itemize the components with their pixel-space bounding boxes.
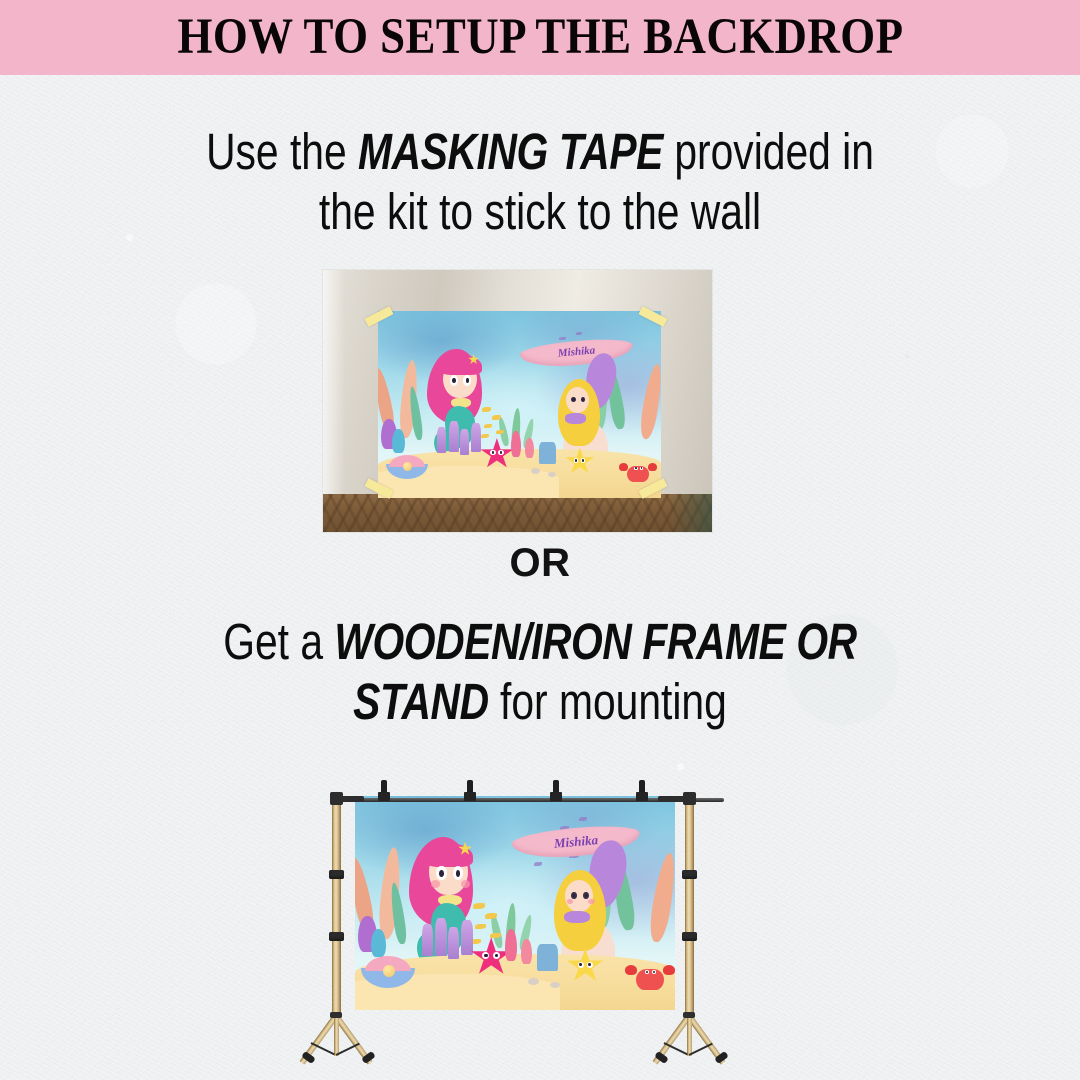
text-post: provided in — [663, 123, 874, 180]
clamp-handle — [553, 780, 559, 792]
backdrop-on-stand: Mishika — [355, 796, 675, 1010]
mermaid-eye — [450, 375, 458, 386]
backdrop-clamp — [550, 780, 562, 801]
text-emphasis: MASKING TAPE — [358, 123, 663, 180]
clamp-handle — [381, 780, 387, 792]
instruction-frame-stand: Get a WOODEN/IRON FRAME OR STAND for mou… — [0, 612, 1080, 732]
fish — [473, 903, 485, 909]
stand-pole-left — [332, 796, 341, 1018]
tripod-leg-center — [687, 1016, 692, 1056]
fish — [496, 430, 504, 434]
purple-rock — [437, 427, 446, 453]
poster-root: HOW TO SETUP THE BACKDROP Use the MASKIN… — [0, 0, 1080, 1080]
photo-stand-mounted: Mishika — [300, 762, 782, 1062]
mermaid-backdrop-artwork: Mishika — [355, 796, 675, 1010]
stand-joint-left — [330, 792, 343, 805]
starfish-eye — [587, 962, 593, 968]
text-pre: Use the — [206, 123, 358, 180]
starfish-shape — [565, 448, 595, 476]
starfish-shape — [480, 438, 514, 470]
fish — [492, 415, 501, 420]
pole-collar — [329, 932, 344, 941]
starfish-eye — [490, 450, 495, 456]
backdrop-clamp — [378, 780, 390, 801]
instruction-masking-tape: Use the MASKING TAPE provided in the kit… — [0, 122, 1080, 242]
instruction-line-2: the kit to stick to the wall — [108, 182, 972, 242]
tripod-hub-left — [330, 1012, 342, 1018]
blue-coral — [371, 929, 386, 957]
mermaid-eye — [583, 892, 589, 900]
tripod-leg-center — [334, 1016, 339, 1056]
mermaid-blush — [461, 880, 470, 887]
minnow-fish — [576, 332, 582, 335]
backdrop-clamp — [464, 780, 476, 801]
fish — [475, 924, 486, 929]
stand-joint-right — [683, 792, 696, 805]
text-post: for mounting — [489, 673, 727, 730]
fish — [484, 424, 492, 428]
pole-collar — [682, 870, 697, 879]
starfish-yellow — [565, 448, 595, 476]
pink-coral — [521, 939, 532, 964]
crab — [628, 963, 672, 991]
stand-pole-right — [685, 796, 694, 1018]
blue-rock — [539, 442, 556, 464]
crab-eye — [634, 467, 638, 470]
starfish-shape — [566, 948, 604, 984]
clamp-handle — [639, 780, 645, 792]
text-emphasis: STAND — [353, 673, 489, 730]
crab-eye — [640, 467, 644, 470]
crab-claw — [648, 463, 657, 471]
clamp-jaw — [378, 792, 390, 801]
text-pre: Get a — [223, 613, 334, 670]
pole-collar — [682, 932, 697, 941]
mermaid-top — [565, 413, 586, 424]
crab-body — [627, 466, 649, 482]
starfish-eye — [498, 450, 503, 456]
fish — [482, 407, 491, 412]
text-emphasis: WOODEN/IRON FRAME OR — [334, 613, 856, 670]
purple-rock — [435, 918, 447, 956]
wooden-floor — [323, 494, 712, 532]
purple-rock — [449, 421, 459, 452]
backdrop-on-wall: Mishika — [378, 311, 661, 498]
pebble — [528, 978, 539, 985]
header-banner: HOW TO SETUP THE BACKDROP — [0, 0, 1080, 75]
clam-shell — [386, 453, 428, 479]
purple-rock — [460, 429, 469, 455]
crab-claw — [625, 965, 637, 975]
starfish-eye — [574, 458, 579, 463]
clamp-handle — [467, 780, 473, 792]
starfish-eye — [493, 952, 500, 960]
starfish-yellow — [566, 948, 604, 984]
blue-coral — [392, 429, 405, 453]
photo-wall-mounted: Mishika — [323, 270, 712, 532]
instruction-line-2: STAND for mounting — [108, 672, 972, 732]
mermaid-top — [564, 911, 590, 924]
starfish-pink — [480, 438, 514, 470]
pebble — [531, 468, 540, 474]
crab-body — [636, 969, 664, 990]
or-separator: OR — [0, 541, 1080, 586]
instruction-line-1: Get a WOODEN/IRON FRAME OR — [108, 612, 972, 672]
pole-collar — [329, 870, 344, 879]
backdrop-clamp — [636, 780, 648, 801]
starfish-eye — [578, 962, 584, 968]
page-title: HOW TO SETUP THE BACKDROP — [177, 12, 903, 63]
mermaid-blush — [588, 899, 595, 904]
mermaid-eye — [436, 866, 446, 880]
pebble — [548, 472, 556, 477]
clamp-jaw — [464, 792, 476, 801]
pink-coral — [511, 431, 521, 457]
mermaid-backdrop-artwork: Mishika — [378, 311, 661, 498]
purple-rock — [448, 927, 459, 959]
instruction-line-1: Use the MASKING TAPE provided in — [108, 122, 972, 182]
clam-shell — [361, 954, 415, 988]
mermaid-blush — [431, 880, 440, 887]
mermaid-eye — [571, 892, 577, 900]
fish — [485, 913, 497, 919]
crab-claw — [663, 965, 675, 975]
clamp-jaw — [550, 792, 562, 801]
tripod-hub-right — [683, 1012, 695, 1018]
purple-rock — [422, 924, 433, 956]
crab — [621, 461, 655, 483]
clamp-jaw — [636, 792, 648, 801]
blue-rock — [537, 944, 558, 971]
pink-coral — [525, 438, 534, 458]
